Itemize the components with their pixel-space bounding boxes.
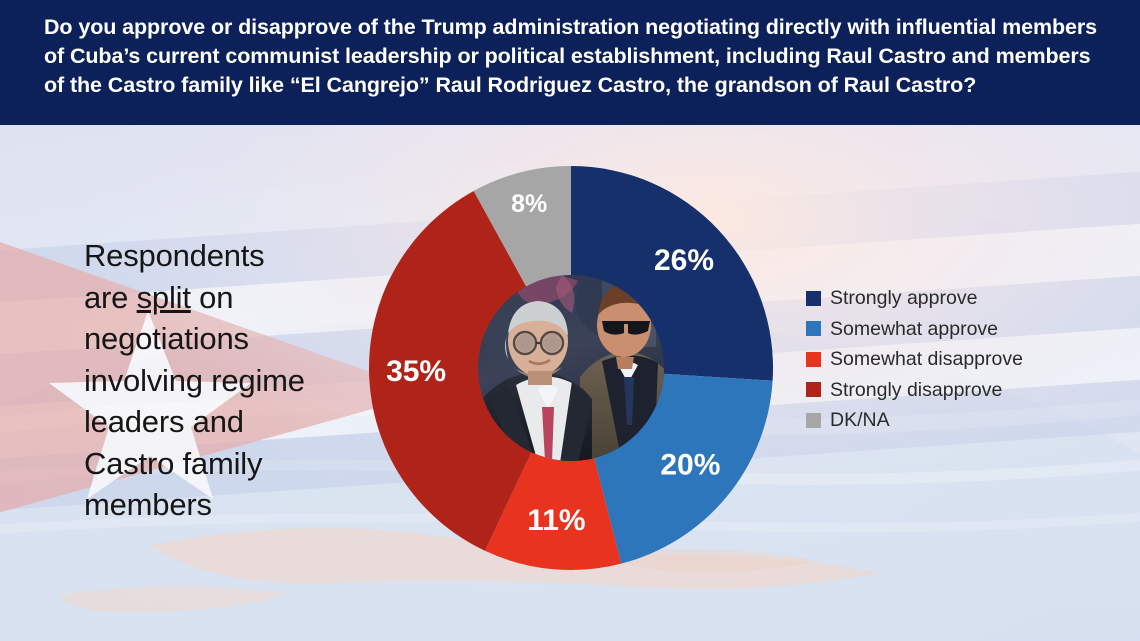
legend-color-swatch bbox=[806, 291, 821, 306]
legend-item-strongly-disapprove[interactable]: Strongly disapprove bbox=[806, 380, 1066, 400]
callout-line-2-before: are bbox=[84, 280, 137, 315]
chart-legend: Strongly approveSomewhat approveSomewhat… bbox=[806, 288, 1066, 441]
legend-item-somewhat-approve[interactable]: Somewhat approve bbox=[806, 319, 1066, 339]
infographic-poster: Do you approve or disapprove of the Trum… bbox=[0, 0, 1140, 641]
callout-line-3: negotiations bbox=[84, 318, 354, 360]
legend-color-swatch bbox=[806, 382, 821, 397]
callout-line-1: Respondents bbox=[84, 235, 354, 277]
callout-line-6: Castro family bbox=[84, 443, 354, 485]
callout-line-2-after: on bbox=[191, 280, 234, 315]
slice-value-label: 11% bbox=[527, 504, 585, 537]
legend-color-swatch bbox=[806, 352, 821, 367]
callout-text: Respondents are split on negotiations in… bbox=[84, 235, 354, 526]
callout-line-4: involving regime bbox=[84, 360, 354, 402]
callout-line-2: are split on bbox=[84, 277, 354, 319]
slice-value-label: 35% bbox=[386, 355, 446, 388]
poll-question-text: Do you approve or disapprove of the Trum… bbox=[44, 13, 1106, 100]
chart-stage: Respondents are split on negotiations in… bbox=[0, 125, 1140, 641]
slice-value-label: 8% bbox=[511, 190, 547, 218]
donut-chart: 26%20%11%35%8% bbox=[366, 163, 776, 573]
legend-color-swatch bbox=[806, 413, 821, 428]
legend-item-somewhat-disapprove[interactable]: Somewhat disapprove bbox=[806, 349, 1066, 369]
legend-label: Somewhat disapprove bbox=[830, 349, 1023, 369]
legend-label: Strongly approve bbox=[830, 288, 977, 308]
slice-value-label: 26% bbox=[654, 244, 714, 277]
slice-value-label: 20% bbox=[660, 449, 720, 482]
callout-line-7: members bbox=[84, 484, 354, 526]
question-header-bar: Do you approve or disapprove of the Trum… bbox=[0, 0, 1140, 125]
callout-emphasis-split: split bbox=[137, 280, 191, 315]
legend-item-dk-na[interactable]: DK/NA bbox=[806, 410, 1066, 430]
legend-label: Strongly disapprove bbox=[830, 380, 1002, 400]
legend-label: DK/NA bbox=[830, 410, 890, 430]
legend-item-strongly-approve[interactable]: Strongly approve bbox=[806, 288, 1066, 308]
callout-line-5: leaders and bbox=[84, 401, 354, 443]
donut-chart-svg: 26%20%11%35%8% bbox=[366, 163, 776, 573]
legend-label: Somewhat approve bbox=[830, 319, 998, 339]
legend-color-swatch bbox=[806, 321, 821, 336]
